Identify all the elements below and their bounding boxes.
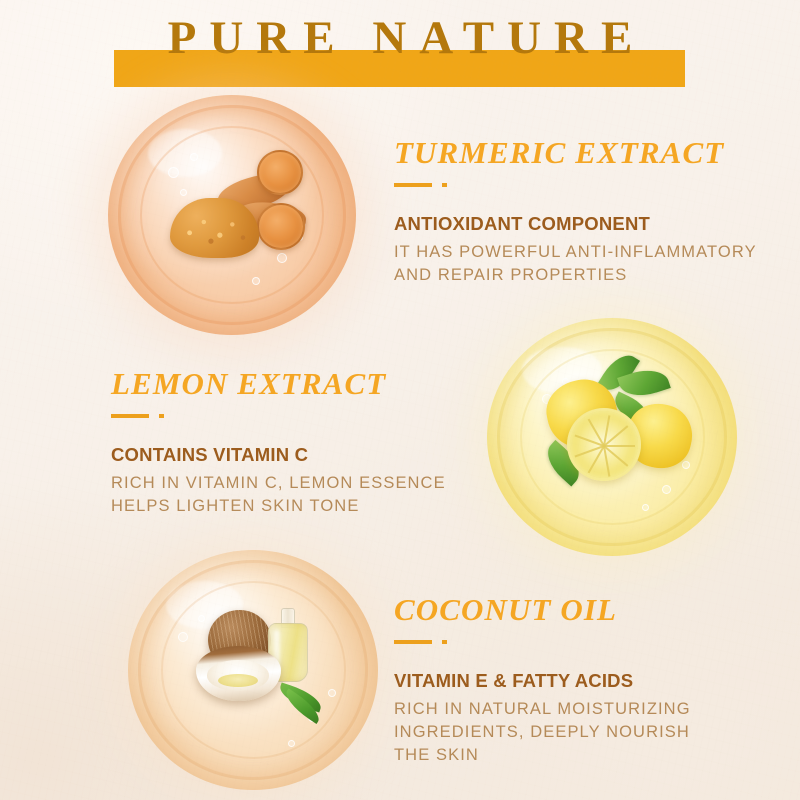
divider-line (394, 640, 432, 644)
turmeric-contents (108, 95, 356, 335)
coconut-contents (128, 550, 378, 790)
divider-dot (442, 183, 447, 187)
lemon-contents (487, 318, 737, 556)
section-turmeric-subheading: ANTIOXIDANT COMPONENT (394, 212, 757, 236)
section-divider (394, 637, 691, 647)
section-lemon-subheading: CONTAINS VITAMIN C (111, 443, 446, 467)
pure-nature-infographic: PURE NATURE TURMERIC EXTRACT (0, 0, 800, 800)
section-lemon-body: RICH IN VITAMIN C, LEMON ESSENCE HELPS L… (111, 472, 446, 518)
section-lemon-heading: LEMON EXTRACT (111, 366, 446, 402)
lemon-slice (567, 408, 641, 481)
section-coconut: COCONUT OIL VITAMIN E & FATTY ACIDS RICH… (394, 592, 691, 767)
divider-line (111, 414, 149, 418)
divider-dot (442, 640, 447, 644)
section-coconut-body: RICH IN NATURAL MOISTURIZING INGREDIENTS… (394, 698, 691, 767)
section-turmeric-body: IT HAS POWERFUL ANTI-INFLAMMATORY AND RE… (394, 241, 757, 287)
oil-pool (218, 674, 259, 687)
section-coconut-subheading: VITAMIN E & FATTY ACIDS (394, 669, 691, 693)
section-coconut-heading: COCONUT OIL (394, 592, 691, 628)
section-divider (111, 411, 446, 421)
turmeric-bowl-image (108, 95, 356, 335)
divider-line (394, 183, 432, 187)
page-title: PURE NATURE (0, 8, 800, 68)
coconut-half (196, 646, 281, 701)
coconut-bowl-image (128, 550, 378, 790)
section-divider (394, 180, 757, 190)
lemon-bowl-image (487, 318, 737, 556)
divider-dot (159, 414, 164, 418)
section-lemon: LEMON EXTRACT CONTAINS VITAMIN C RICH IN… (111, 366, 446, 518)
section-turmeric: TURMERIC EXTRACT ANTIOXIDANT COMPONENT I… (394, 135, 757, 287)
header: PURE NATURE (0, 0, 800, 95)
section-turmeric-heading: TURMERIC EXTRACT (394, 135, 757, 171)
